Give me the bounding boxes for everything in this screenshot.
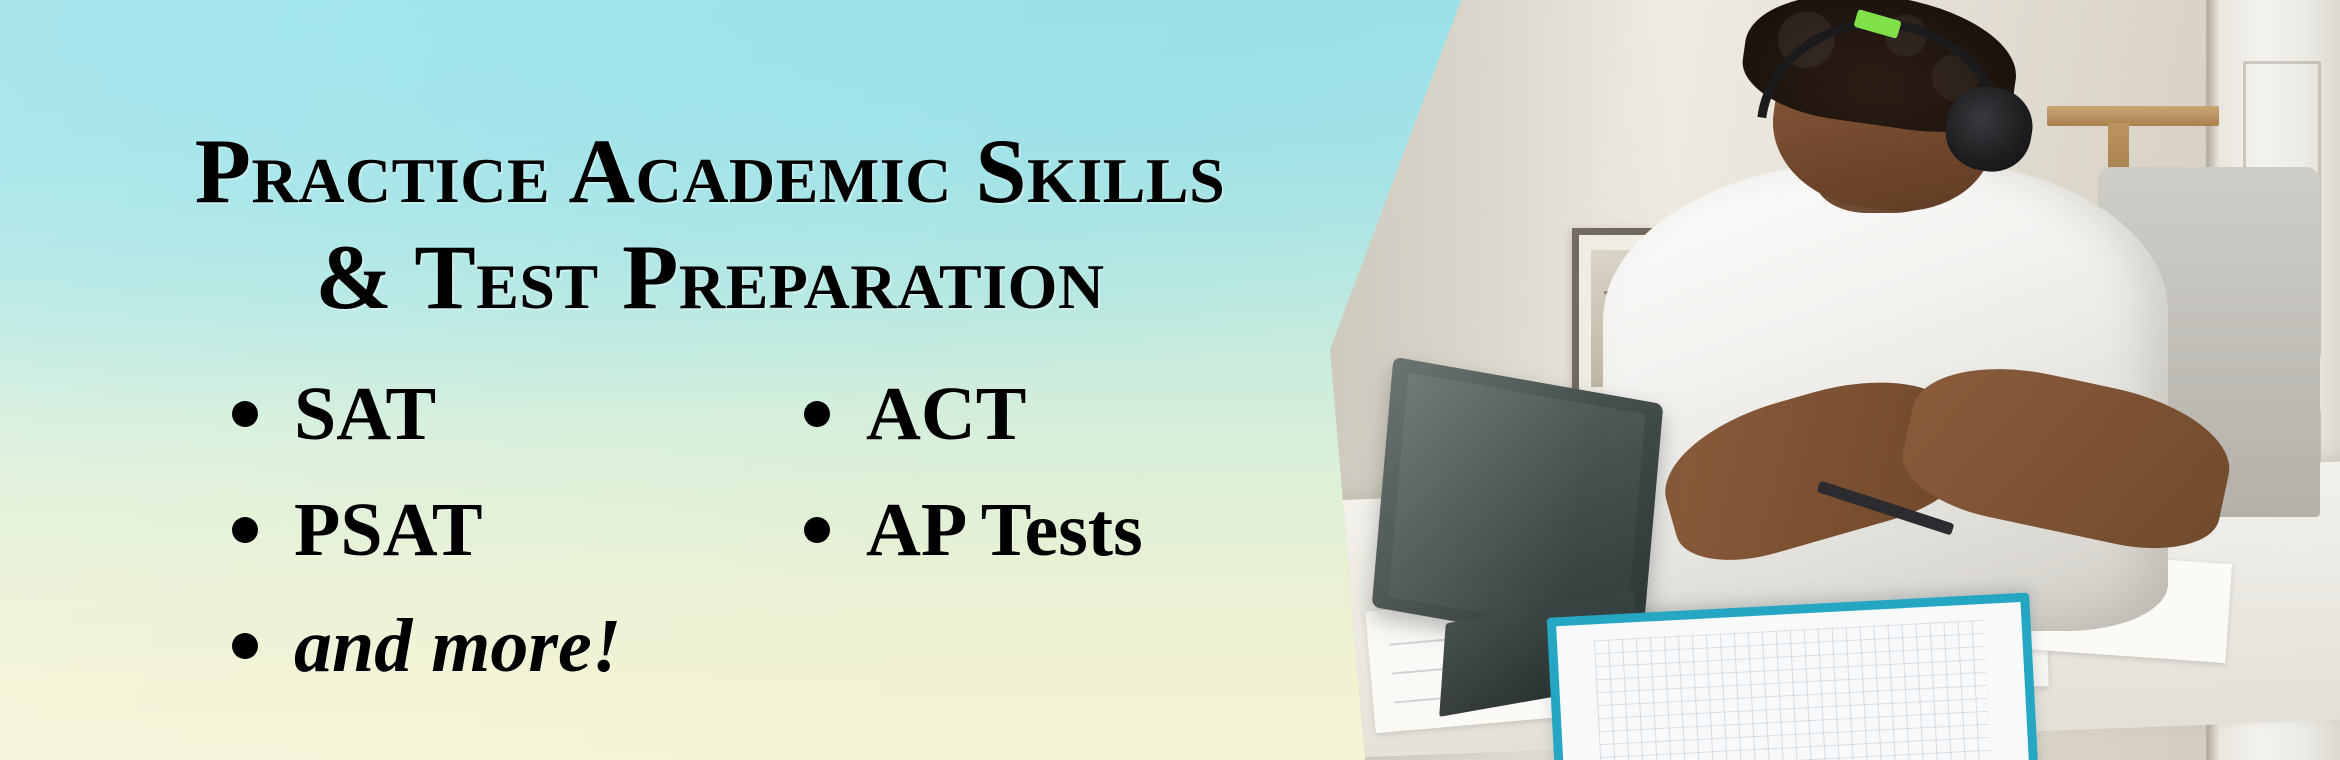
- promo-banner: Practice Academic Skills & Test Preparat…: [0, 0, 2340, 760]
- student-photo: [1330, 0, 2340, 760]
- clipboard-grid: [1594, 620, 1992, 760]
- headline-line-2: & Test Preparation: [0, 224, 1420, 331]
- bullet-dot-icon: [804, 401, 830, 427]
- bullet-dot-icon: [232, 517, 258, 543]
- list-item-and-more: and more!: [232, 588, 732, 704]
- wall-shelf: [2047, 106, 2219, 126]
- list-item-label: AP Tests: [866, 492, 1143, 568]
- list-item-sat: SAT: [232, 356, 732, 472]
- list-item-label: PSAT: [294, 492, 483, 568]
- list-item-psat: PSAT: [232, 472, 732, 588]
- list-item-label: ACT: [866, 376, 1026, 452]
- photo-scene: [1330, 0, 2340, 760]
- list-item-act: ACT: [804, 356, 1304, 472]
- bullet-dot-icon: [232, 633, 258, 659]
- exam-list: SAT PSAT and more! ACT AP Tests: [232, 356, 1312, 704]
- blue-clipboard: [1547, 593, 2040, 760]
- headline-line-1: Practice Academic Skills: [0, 118, 1420, 225]
- list-item-label: and more!: [294, 608, 621, 684]
- bullet-dot-icon: [232, 401, 258, 427]
- list-item-label: SAT: [294, 376, 436, 452]
- bullet-dot-icon: [804, 517, 830, 543]
- text-content: Practice Academic Skills & Test Preparat…: [0, 0, 1420, 760]
- list-item-ap-tests: AP Tests: [804, 472, 1304, 588]
- page-title: Practice Academic Skills & Test Preparat…: [0, 118, 1420, 331]
